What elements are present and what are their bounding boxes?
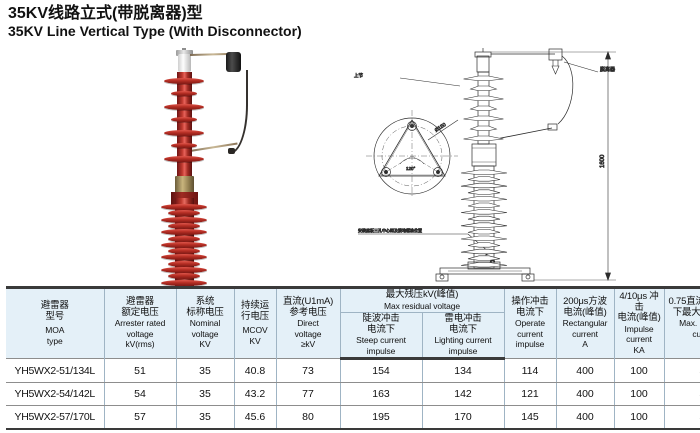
drawing-shed-2 [471, 86, 497, 91]
drawing-svg: Ø150 120° 安装底板三孔中心距及接地螺栓位置 A [340, 48, 692, 286]
drawing-shed-1 [464, 76, 504, 81]
shed-2 [168, 210, 200, 216]
shed-3 [161, 217, 207, 223]
drawing-shed-3 [461, 183, 507, 188]
drawing-shed-4 [468, 190, 500, 195]
cell-model: YH5WX2-54/142L [6, 383, 104, 406]
table-row: YH5WX2-57/170L573545.6801951701454001005… [6, 406, 700, 430]
drawing-shed-7 [461, 210, 507, 215]
cell-impulse-current: 100 [614, 383, 664, 406]
shed-1 [161, 204, 207, 210]
table-row: YH5WX2-54/142L543543.2771631421214001005… [6, 383, 700, 406]
cell-nominal-voltage: 35 [176, 359, 234, 383]
cell-max-leakage-current: 50 [664, 359, 700, 383]
cell-operate-current-impulse: 145 [504, 406, 556, 430]
product-photo [118, 48, 268, 283]
shed-6 [168, 236, 200, 242]
cell-mcov: 45.6 [234, 406, 276, 430]
cell-model: YH5WX2-51/134L [6, 359, 104, 383]
shed-4 [168, 223, 200, 229]
cell-steep-current-impulse: 195 [340, 406, 422, 430]
drawing-shed-9 [461, 223, 507, 228]
title-english: 35KV Line Vertical Type (With Disconnect… [8, 23, 302, 40]
shed-9 [161, 254, 207, 260]
col-header-max-residual-voltage: 最大残压kV(峰值) Max residual voltage [340, 288, 504, 313]
shed-11 [161, 267, 207, 273]
elevation-view: 脱离器 上节 [354, 48, 616, 281]
drawing-shed-14 [468, 256, 500, 261]
cell-rated-voltage: 54 [104, 383, 176, 406]
cell-impulse-current: 100 [614, 359, 664, 383]
specification-table: 避雷器 型号 MOA type 避雷器 额定电压 Arrester rated … [6, 286, 700, 430]
disconnector-lead-wire [230, 70, 248, 154]
cell-rated-voltage: 57 [104, 406, 176, 430]
cell-direct-voltage: 77 [276, 383, 340, 406]
drawing-shed-6 [471, 126, 497, 131]
shed-7 [164, 156, 204, 162]
cell-mcov: 43.2 [234, 383, 276, 406]
col-header-impulse-current: 4/10μs 冲击 电流(峰值) Impulse current KA [614, 288, 664, 359]
metal-coupling [175, 176, 194, 193]
cell-operate-current-impulse: 121 [504, 383, 556, 406]
drawing-shed-8 [468, 216, 500, 221]
col-header-mcov: 持续运 行电压 MCOV KV [234, 288, 276, 359]
upper-unit-label: 上节 [354, 72, 363, 79]
col-header-max-leakage-current: 0.75直流参考电压 下最大泄漏电流 Max. Leakage current … [664, 288, 700, 359]
shed-4 [171, 117, 197, 122]
cell-operate-current-impulse: 114 [504, 359, 556, 383]
col-header-operate-current-impulse: 操作冲击 电流下 Operate current impulse [504, 288, 556, 359]
drawing-shed-6 [468, 203, 500, 208]
cell-steep-current-impulse: 154 [340, 359, 422, 383]
drawing-shed-3 [464, 96, 504, 101]
cell-nominal-voltage: 35 [176, 383, 234, 406]
cell-rectangular-current: 400 [556, 359, 614, 383]
cell-impulse-current: 100 [614, 406, 664, 430]
title-chinese: 35KV线路立式(带脱离器)型 [8, 4, 302, 23]
cell-max-leakage-current: 50 [664, 383, 700, 406]
disconnector-lead-tip [228, 148, 235, 154]
col-header-nominal-voltage: 系统 标称电压 Nominal voltage KV [176, 288, 234, 359]
shed-5 [164, 130, 204, 136]
table-row: YH5WX2-51/134L513540.8731541341144001005… [6, 359, 700, 383]
col-header-lighting-current-impulse: 雷电冲击 电流下 Lighting current impulse [422, 313, 504, 359]
drawing-shed-4 [471, 106, 497, 111]
col-header-steep-current-impulse: 陡波冲击 电流下 Steep current impulse [340, 313, 422, 359]
drawing-shed-13 [461, 249, 507, 254]
cell-direct-voltage: 73 [276, 359, 340, 383]
col-header-moa-type: 避雷器 型号 MOA type [6, 288, 104, 359]
shed-7 [161, 242, 207, 248]
drawing-shed-5 [464, 116, 504, 121]
shed-8 [168, 248, 200, 254]
drawing-shed-2 [468, 177, 500, 182]
drawing-shed-11 [461, 236, 507, 241]
cell-mcov: 40.8 [234, 359, 276, 383]
arrester-illustration [118, 48, 268, 283]
overall-height-dimension: 1600 [600, 154, 606, 168]
shed-6 [171, 143, 197, 148]
page-title: 35KV线路立式(带脱离器)型 35KV Line Vertical Type … [8, 4, 302, 40]
drawing-shed-1 [461, 170, 507, 175]
cell-lighting-current-impulse: 134 [422, 359, 504, 383]
shed-13 [161, 280, 207, 286]
technical-drawing: Ø150 120° 安装底板三孔中心距及接地螺栓位置 A [340, 48, 692, 286]
cell-model: YH5WX2-57/170L [6, 406, 104, 430]
specification-table-container: 避雷器 型号 MOA type 避雷器 额定电压 Arrester rated … [6, 286, 694, 430]
shed-5 [161, 229, 207, 235]
drawing-shed-10 [468, 229, 500, 234]
cell-nominal-voltage: 35 [176, 406, 234, 430]
shed-10 [168, 261, 200, 267]
cell-rectangular-current: 400 [556, 383, 614, 406]
cell-steep-current-impulse: 163 [340, 383, 422, 406]
shed-2 [171, 91, 197, 96]
col-header-direct-voltage: 直流(U1mA) 参考电压 Direct voltage ≥kV [276, 288, 340, 359]
cell-lighting-current-impulse: 170 [422, 406, 504, 430]
drawing-shed-5 [461, 196, 507, 201]
base-note-text: 安装底板三孔中心距及接地螺栓位置 [358, 227, 422, 233]
cell-lighting-current-impulse: 142 [422, 383, 504, 406]
cell-max-leakage-current: 50 [664, 406, 700, 430]
cell-rated-voltage: 51 [104, 359, 176, 383]
cell-direct-voltage: 80 [276, 406, 340, 430]
disconnector-callout-label: 脱离器 [600, 66, 615, 73]
terminal-cap [178, 54, 191, 72]
col-header-rectangular-current: 200μs方波 电流(峰值) Rectangular current A [556, 288, 614, 359]
disconnector-device [226, 52, 241, 72]
base-plan-view: Ø150 120° [366, 110, 458, 198]
col-header-rated-voltage: 避雷器 额定电压 Arrester rated voltage kV(rms) [104, 288, 176, 359]
cell-rectangular-current: 400 [556, 406, 614, 430]
drawing-shed-12 [468, 243, 500, 248]
shed-12 [168, 273, 200, 279]
shed-3 [164, 104, 204, 110]
angle-label: 120° [406, 166, 416, 171]
drawing-shed-7 [464, 136, 504, 141]
shed-1 [164, 78, 204, 84]
